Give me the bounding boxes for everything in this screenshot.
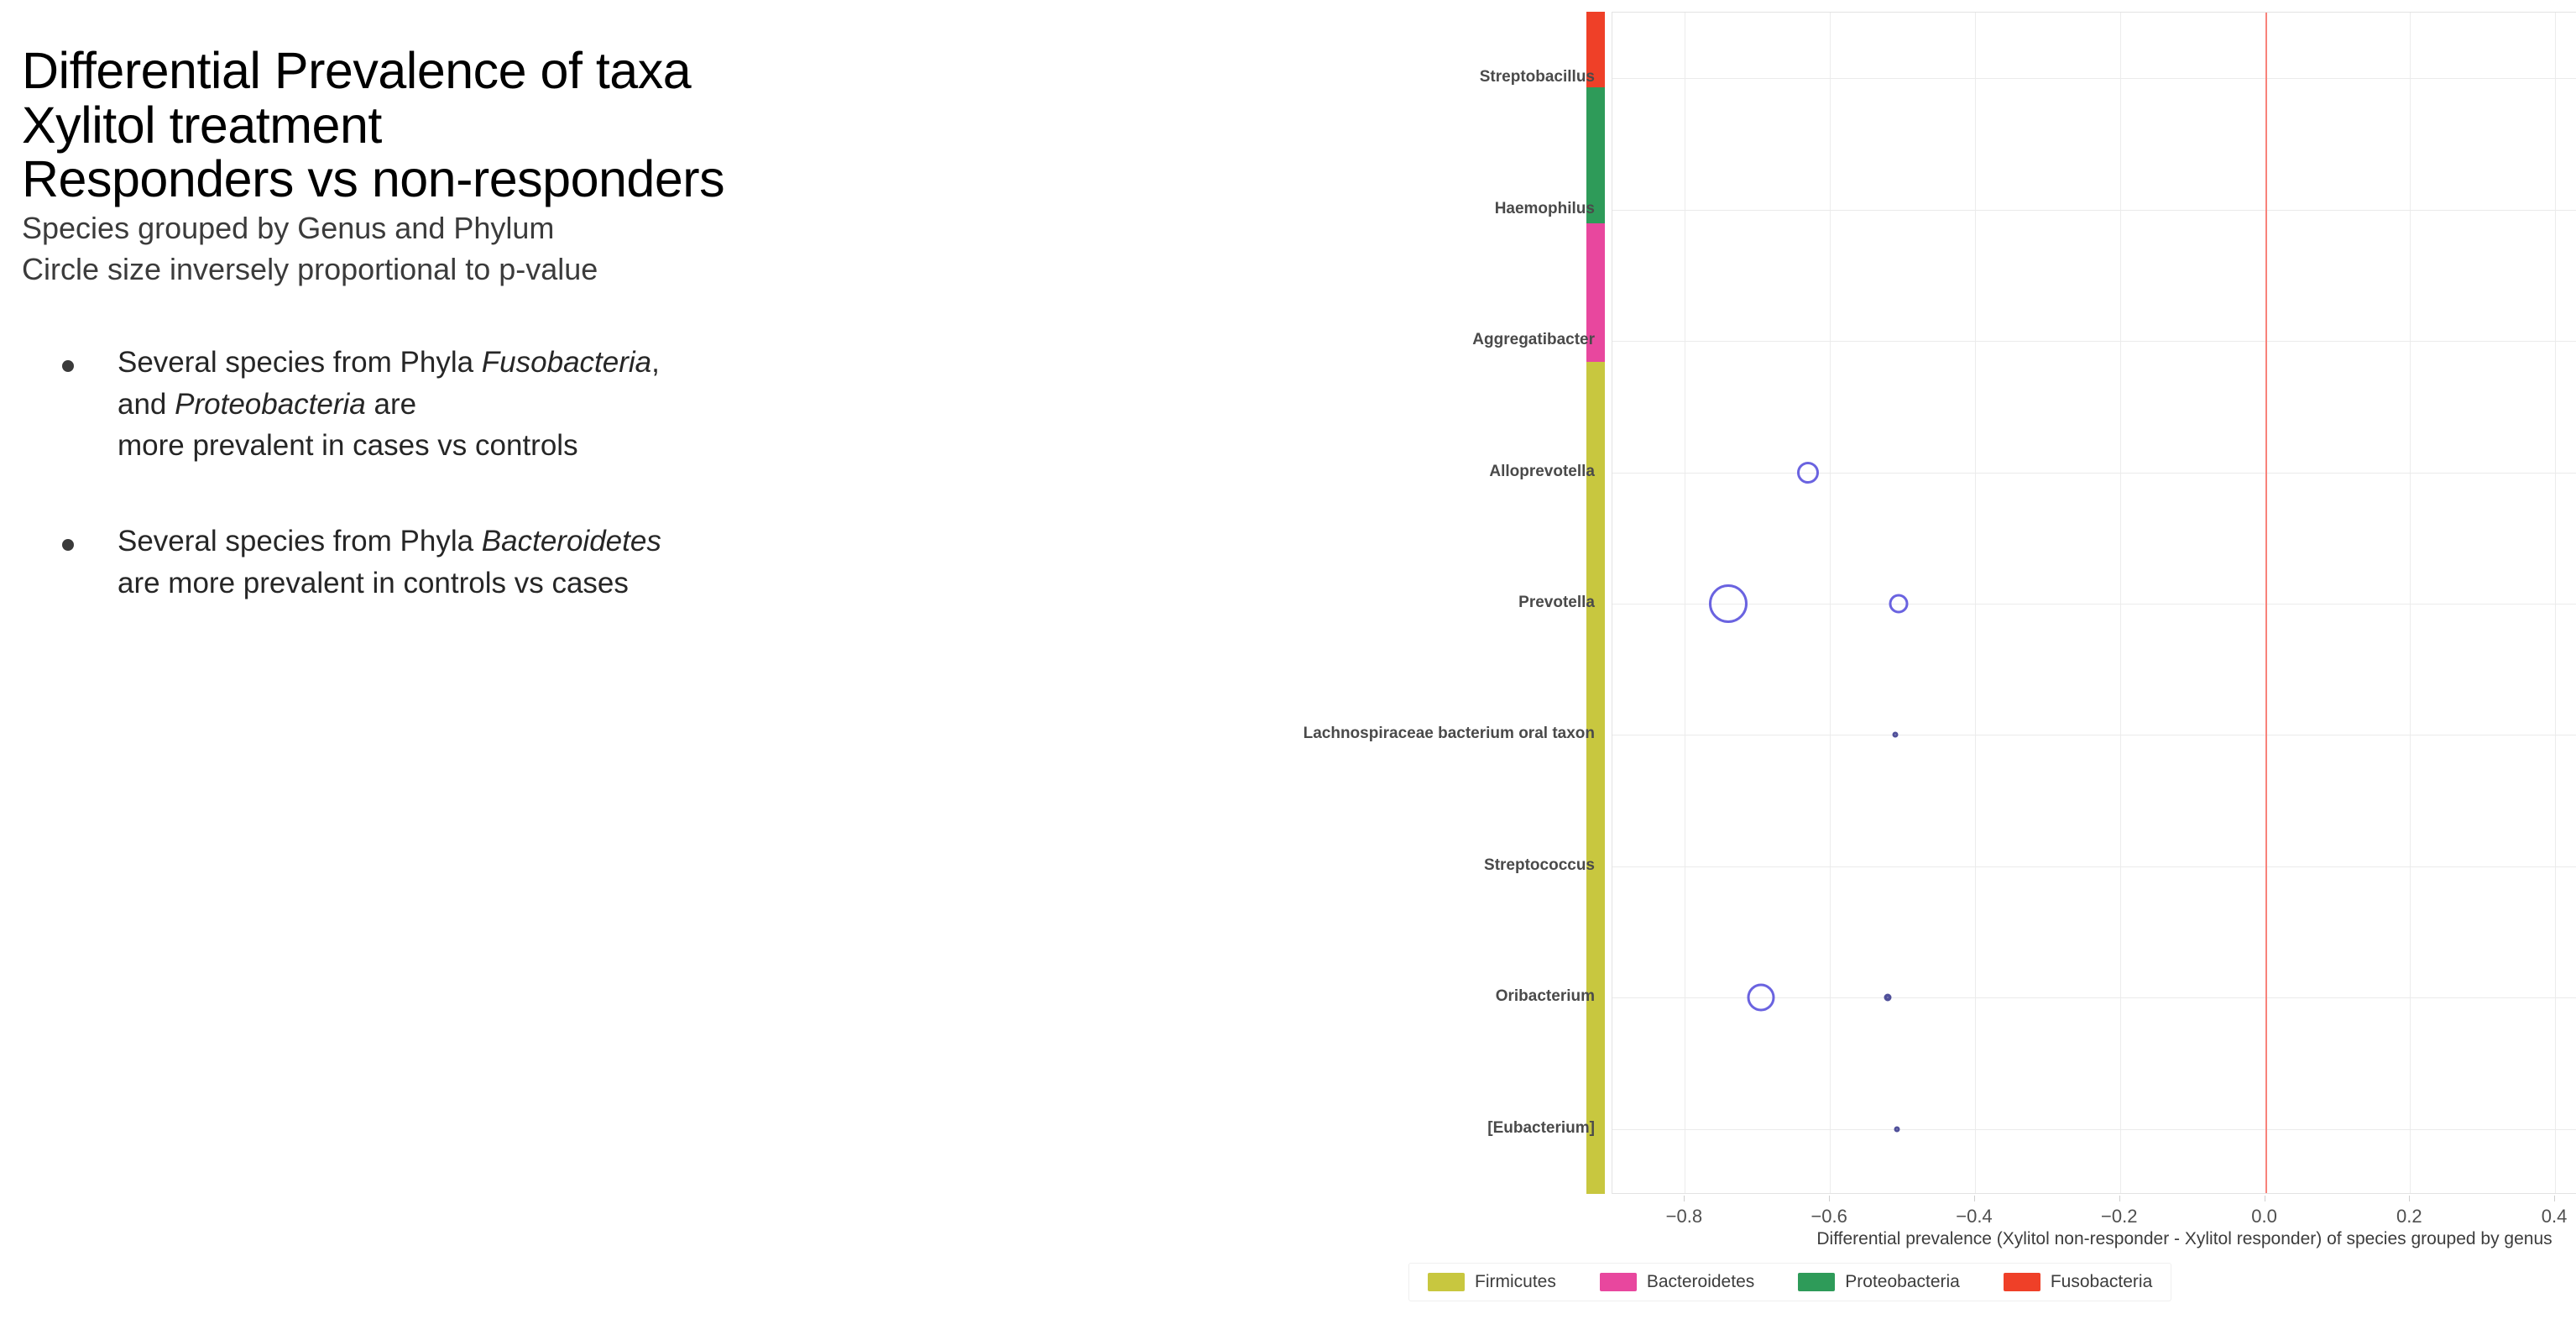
- slide-title-line-3: Responders vs non-responders: [22, 152, 1116, 207]
- x-gridline-6: [2555, 13, 2556, 1193]
- x-gridline-3: [2120, 13, 2121, 1193]
- y-axis-label-1: Haemophilus: [974, 200, 1595, 218]
- x-tick-mark-0: [1684, 1196, 1685, 1201]
- x-gridline-1: [1830, 13, 1831, 1193]
- data-point[interactable]: [1894, 1126, 1899, 1132]
- y-gridline-0: [1612, 78, 2576, 79]
- y-axis-label-7: Oribacterium: [974, 987, 1595, 1006]
- zero-reference-line: [2265, 13, 2267, 1193]
- data-point[interactable]: [1892, 732, 1898, 738]
- bullet-1-italic-taxon-2: Proteobacteria: [175, 388, 366, 421]
- legend-label: Bacteroidetes: [1647, 1272, 1754, 1292]
- x-axis-label-0: −0.8: [1666, 1206, 1702, 1227]
- y-axis-label-3: Alloprevotella: [974, 463, 1595, 481]
- legend-swatch-icon: [1798, 1273, 1835, 1291]
- bullet-2-line2: are more prevalent in controls vs cases: [118, 567, 629, 599]
- y-gridline-2: [1612, 341, 2576, 342]
- data-point[interactable]: [1884, 994, 1892, 1002]
- bullet-dot-icon: [62, 360, 74, 372]
- x-tick-mark-2: [1974, 1196, 1975, 1201]
- data-point[interactable]: [1797, 462, 1819, 484]
- legend-item-firmicutes[interactable]: Firmicutes: [1428, 1272, 1556, 1292]
- bullet-1-italic-taxon-1: Fusobacteria: [482, 346, 651, 379]
- bullet-dot-icon: [62, 539, 74, 551]
- bullet-text-1: Several species from Phyla Fusobacteria,…: [118, 342, 660, 467]
- x-axis-label-3: −0.2: [2101, 1206, 2137, 1227]
- x-axis-label-2: −0.4: [1956, 1206, 1992, 1227]
- x-gridline-2: [1975, 13, 1976, 1193]
- bullet-list: Several species from Phyla Fusobacteria,…: [22, 342, 1116, 604]
- x-axis-label-1: −0.6: [1811, 1206, 1847, 1227]
- y-axis-label-5: Lachnospiraceae bacterium oral taxon: [974, 725, 1595, 743]
- bullet-1-prefix: Several species from Phyla: [118, 346, 482, 379]
- list-item: Several species from Phyla Fusobacteria,…: [62, 342, 1116, 467]
- x-axis-label-6: 0.4: [2542, 1206, 2568, 1227]
- x-tick-mark-3: [2119, 1196, 2120, 1201]
- data-point[interactable]: [1709, 584, 1748, 623]
- legend-swatch-icon: [1428, 1273, 1465, 1291]
- phylum-legend: FirmicutesBacteroidetesProteobacteriaFus…: [1408, 1263, 2171, 1301]
- x-gridline-0: [1685, 13, 1685, 1193]
- bullet-1-mid: ,: [651, 346, 660, 379]
- y-gridline-1: [1612, 210, 2576, 211]
- x-tick-mark-6: [2554, 1196, 2555, 1201]
- y-gridline-5: [1612, 735, 2576, 735]
- legend-label: Fusobacteria: [2051, 1272, 2152, 1292]
- legend-swatch-icon: [2004, 1273, 2040, 1291]
- slide-subtitle-line-1: Species grouped by Genus and Phylum: [22, 208, 1116, 249]
- x-gridline-5: [2410, 13, 2411, 1193]
- slide-title-line-1: Differential Prevalence of taxa: [22, 44, 1116, 98]
- y-gridline-4: [1612, 604, 2576, 605]
- phylum-band-firmicutes: [1586, 362, 1605, 1194]
- slide-text-panel: Differential Prevalence of taxa Xylitol …: [0, 0, 1116, 1319]
- legend-item-fusobacteria[interactable]: Fusobacteria: [2004, 1272, 2152, 1292]
- bullet-1-line3: more prevalent in cases vs controls: [118, 429, 578, 462]
- scatter-plot-area: [1612, 12, 2576, 1194]
- bullet-2-prefix: Several species from Phyla: [118, 525, 482, 557]
- legend-label: Proteobacteria: [1845, 1272, 1960, 1292]
- y-axis-label-2: Aggregatibacter: [974, 331, 1595, 349]
- legend-label: Firmicutes: [1475, 1272, 1556, 1292]
- bullet-2-italic-taxon-1: Bacteroidetes: [482, 525, 661, 557]
- y-axis-label-8: [Eubacterium]: [974, 1119, 1595, 1138]
- y-axis-label-4: Prevotella: [974, 594, 1595, 612]
- data-point[interactable]: [1889, 594, 1909, 614]
- x-axis-label-4: 0.0: [2251, 1206, 2277, 1227]
- data-point[interactable]: [1748, 984, 1775, 1012]
- y-gridline-8: [1612, 1129, 2576, 1130]
- y-gridline-3: [1612, 473, 2576, 474]
- x-tick-mark-1: [1829, 1196, 1830, 1201]
- list-item: Several species from Phyla Bacteroidetes…: [62, 521, 1116, 604]
- slide-title-line-2: Xylitol treatment: [22, 98, 1116, 153]
- x-axis-label-5: 0.2: [2396, 1206, 2422, 1227]
- y-gridline-6: [1612, 866, 2576, 867]
- x-axis-title: Differential prevalence (Xylitol non-res…: [1612, 1229, 2576, 1249]
- y-axis-label-6: Streptococcus: [974, 856, 1595, 875]
- y-axis-label-0: Streptobacillus: [974, 68, 1595, 86]
- x-tick-mark-5: [2409, 1196, 2410, 1201]
- legend-swatch-icon: [1600, 1273, 1637, 1291]
- bullet-text-2: Several species from Phyla Bacteroidetes…: [118, 521, 661, 604]
- legend-item-bacteroidetes[interactable]: Bacteroidetes: [1600, 1272, 1754, 1292]
- x-tick-mark-4: [2265, 1196, 2265, 1201]
- bullet-1-line2-prefix: and: [118, 388, 175, 421]
- bullet-1-line2-suffix: are: [366, 388, 416, 421]
- chart-panel: StreptobacillusHaemophilusAggregatibacte…: [1116, 0, 2576, 1319]
- legend-item-proteobacteria[interactable]: Proteobacteria: [1798, 1272, 1960, 1292]
- slide-subtitle-line-2: Circle size inversely proportional to p-…: [22, 249, 1116, 290]
